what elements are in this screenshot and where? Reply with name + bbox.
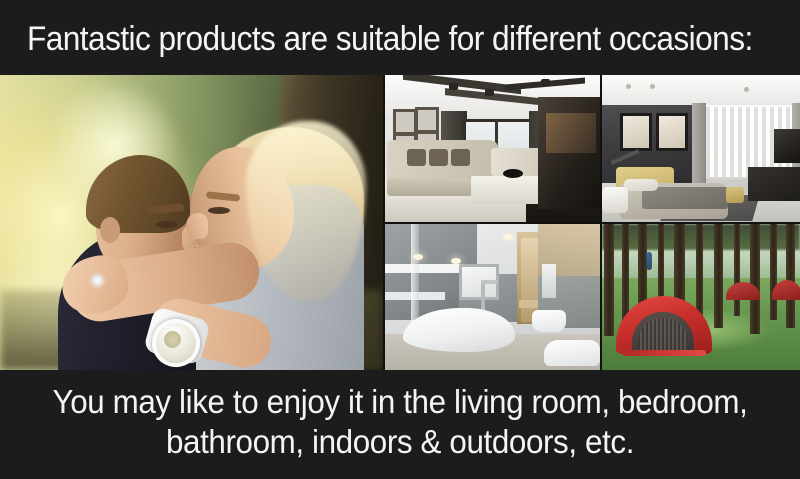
bedroom-ceiling <box>602 75 800 105</box>
ceiling-light-icon <box>451 258 461 264</box>
engagement-ring-icon <box>92 275 103 286</box>
sofa-cushion <box>451 149 470 166</box>
ceiling-downlight-icon <box>650 84 655 89</box>
toilet <box>532 310 566 332</box>
pine-trunk <box>750 224 760 334</box>
couple-embracing-outdoors-photo <box>0 75 383 370</box>
wall-artwork-frame <box>656 113 688 151</box>
woman-eye <box>208 207 230 214</box>
caption-line-2: bathroom, indoors & outdoors, etc. <box>20 422 780 462</box>
pine-trunk <box>770 224 777 320</box>
headline-text: Fantastic products are suitable for diff… <box>27 20 723 58</box>
woman-nose <box>186 213 208 239</box>
ceiling-light-icon <box>503 234 513 240</box>
camping-tent-outdoors-photo <box>602 224 800 370</box>
sofa-cushion <box>407 149 426 166</box>
ceiling-downlight-icon <box>626 84 631 89</box>
wall-picture-frame <box>393 109 417 135</box>
nightstand <box>602 187 628 213</box>
ceiling-spotlight-icon <box>485 89 494 96</box>
pine-trunk <box>734 224 740 316</box>
ceiling-spotlight-icon <box>449 83 458 90</box>
living-room-interior-photo <box>385 75 600 222</box>
bathroom-interior-photo <box>385 224 600 370</box>
tent-base-trim <box>622 350 706 356</box>
hanging-towel <box>542 264 556 298</box>
pine-trunk <box>714 224 723 328</box>
ceiling-light-icon <box>413 254 423 260</box>
man-ear <box>100 217 120 243</box>
caption-line-1: You may like to enjoy it in the living r… <box>20 382 780 422</box>
bedroom-interior-photo <box>602 75 800 222</box>
distant-tent <box>772 280 800 300</box>
pine-trunk <box>604 224 614 336</box>
tub-faucet-spout <box>481 280 497 284</box>
sofa-cushion <box>429 149 448 166</box>
pine-trunk <box>786 224 795 328</box>
headline-band: Fantastic products are suitable for diff… <box>0 0 800 75</box>
man-eye <box>156 221 178 228</box>
photo-mosaic <box>0 75 800 370</box>
ottoman-stool <box>726 187 744 203</box>
distant-person <box>646 252 652 270</box>
washbasin <box>544 340 600 366</box>
curtain-left <box>692 103 706 183</box>
caption-band: You may like to enjoy it in the living r… <box>0 370 800 479</box>
tv-screen <box>546 113 596 153</box>
wall-tv <box>774 129 800 163</box>
wall-shelf <box>385 264 461 273</box>
dresser <box>748 167 800 201</box>
pine-trunk <box>622 224 629 324</box>
product-occasions-banner: Fantastic products are suitable for diff… <box>0 0 800 479</box>
bed-pillow <box>624 179 658 191</box>
ceiling-spotlight-icon <box>541 79 550 86</box>
wall-picture-frame <box>415 107 439 133</box>
caption-text: You may like to enjoy it in the living r… <box>0 382 800 462</box>
glass-partition <box>411 224 419 332</box>
decor-bowl <box>503 169 523 178</box>
ceiling-downlight-icon <box>744 87 749 92</box>
pine-trunk <box>696 224 703 322</box>
wall-artwork-frame <box>620 113 652 151</box>
